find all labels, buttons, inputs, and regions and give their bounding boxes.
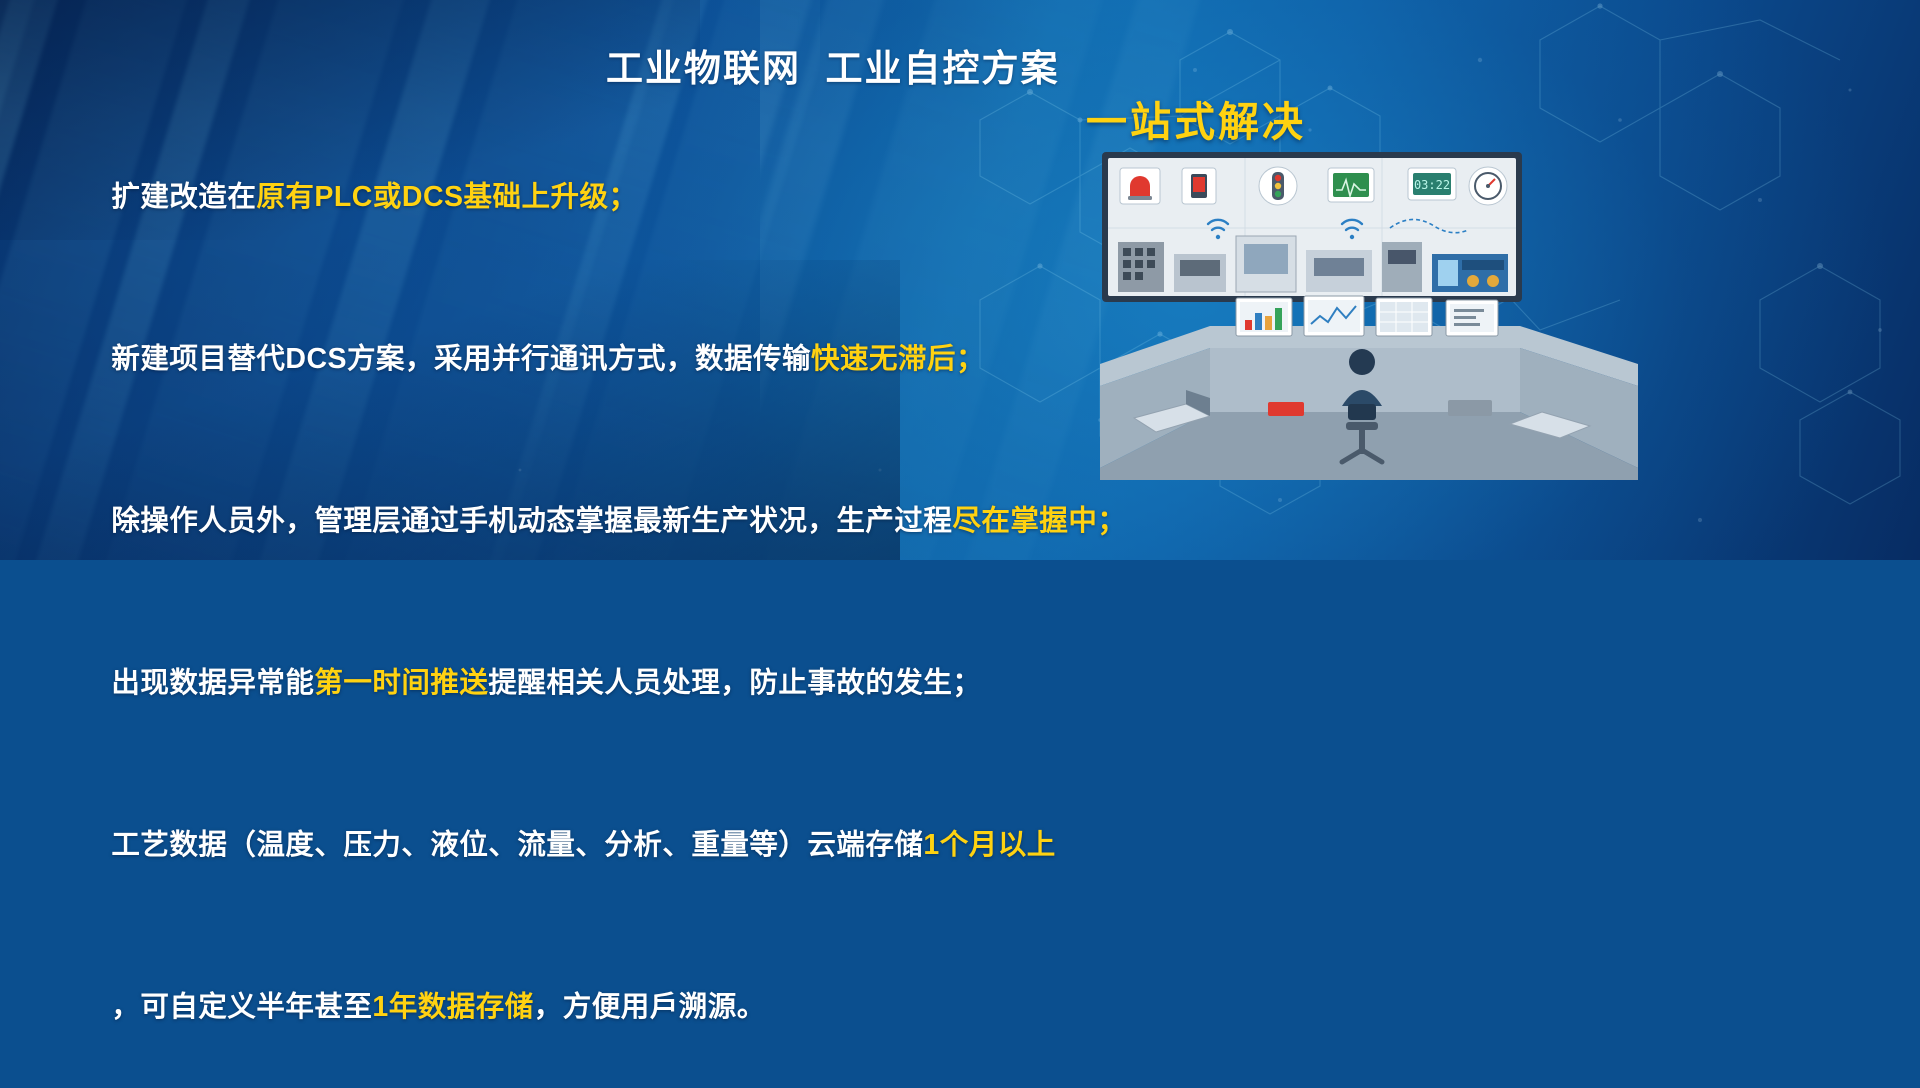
feature-line-4: 出现数据异常能第一时间推送提醒相关人员处理，防止事故的发生； (44, 602, 1104, 764)
feature-line-2: 新建项目替代DCS方案，采用并行通讯方式，数据传输快速无滞后； (44, 278, 1104, 440)
red-folder-icon (1268, 402, 1304, 416)
feature-line-3: 除操作人员外，管理层通过手机动态掌握最新生产状况，生产过程尽在掌握中； (44, 440, 1104, 602)
feature-line-1: 扩建改造在原有PLC或DCS基础上升级； (44, 116, 1104, 278)
line-6-seg-2: 1年数据存储 (372, 991, 533, 1023)
gauge-meter-icon (1469, 167, 1507, 205)
control-room-illustration: 03:22 (1090, 150, 1650, 480)
side-slogan: 一站式解决 (1086, 88, 1306, 148)
line-1-seg-2: 原有PLC或DCS基础上升级； (256, 181, 637, 213)
line-2-seg-1: 新建项目替代DCS方案，采用并行通讯方式，数据传输 (111, 343, 811, 375)
page-title: 工业物联网 工业自控方案 (606, 38, 1060, 92)
line-4-seg-2: 第一时间推送 (314, 667, 488, 699)
line-5-seg-2: 1个月以上 (923, 829, 1055, 861)
operator-console (1100, 296, 1638, 480)
video-wall: 03:22 (1102, 152, 1522, 302)
grid-monitor (1376, 298, 1432, 336)
traffic-light-icon (1259, 167, 1297, 205)
bar-chart-monitor (1236, 298, 1292, 336)
digital-clock-icon: 03:22 (1408, 168, 1456, 200)
feature-line-5: 工艺数据（温度、压力、液位、流量、分析、重量等）云端存储1个月以上 (44, 764, 1104, 926)
waveform-monitor-icon (1328, 168, 1374, 202)
line-6-seg-1: ，可自定义半年甚至 (111, 991, 372, 1023)
line-3-seg-1: 除操作人员外，管理层通过手机动态掌握最新生产状况，生产过程 (111, 505, 952, 537)
line-4-seg-1: 出现数据异常能 (111, 667, 314, 699)
document-tray-icon (1448, 400, 1492, 416)
data-monitor (1446, 300, 1498, 336)
feature-line-6: ，可自定义半年甚至1年数据存储，方便用戶溯源。 (44, 926, 1104, 1088)
tablet-device-icon (1182, 168, 1216, 204)
line-2-seg-2: 快速无滞后； (811, 343, 985, 375)
banner-background: 工业物联网 工业自控方案 一站式解决 扩建改造在原有PLC或DCS基础上升级； … (0, 0, 1920, 560)
line-chart-monitor (1304, 296, 1364, 336)
line-5-seg-1: 工艺数据（温度、压力、液位、流量、分析、重量等）云端存储 (111, 829, 923, 861)
feature-list: 扩建改造在原有PLC或DCS基础上升级； 新建项目替代DCS方案，采用并行通讯方… (44, 116, 1104, 1088)
line-1-seg-1: 扩建改造在 (111, 181, 256, 213)
alarm-beacon-icon (1120, 168, 1160, 204)
line-3-seg-2: 尽在掌握中； (952, 505, 1126, 537)
line-4-seg-3: 提醒相关人员处理，防止事故的发生； (488, 667, 981, 699)
line-6-seg-3: ，方便用戶溯源。 (534, 991, 766, 1023)
svg-text:03:22: 03:22 (1414, 178, 1450, 192)
